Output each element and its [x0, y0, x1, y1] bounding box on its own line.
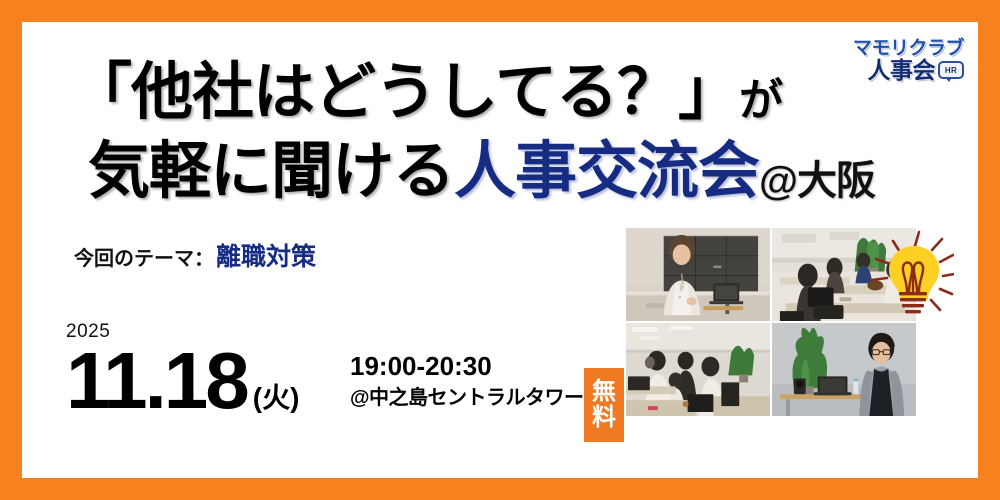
headline-location: @大阪	[759, 161, 875, 206]
headline-navy-part: 人事交流会	[454, 139, 759, 206]
logo-line-1: マモリクラブ	[853, 39, 964, 58]
headline-quote: 「他社はどうしてる？」	[70, 60, 739, 127]
headline-particle: が	[739, 79, 782, 127]
event-time: 19:00-20:30	[350, 352, 584, 382]
headline-line-1: 「他社はどうしてる？」 が	[70, 60, 880, 127]
headline: 「他社はどうしてる？」 が 気軽に聞ける 人事交流会 @大阪	[70, 60, 880, 206]
hr-badge-text: HR	[945, 66, 957, 75]
free-badge-char-1: 無	[592, 380, 616, 404]
event-schedule: 19:00-20:30 @中之島セントラルタワー	[350, 352, 584, 410]
speaker-with-laptop-photo	[772, 323, 916, 416]
event-venue: @中之島セントラルタワー	[350, 386, 584, 410]
event-day: 11.18	[66, 343, 247, 418]
headline-line-2: 気軽に聞ける 人事交流会 @大阪	[88, 139, 880, 206]
event-weekday: (火)	[253, 384, 300, 418]
session-theme: 今回のテーマ： 離職対策	[74, 237, 316, 273]
free-badge-char-2: 料	[592, 406, 616, 430]
seminar-table-discussion-photo	[772, 228, 916, 321]
theme-value: 離職対策	[216, 237, 316, 273]
office-people-standing-meeting-photo	[626, 323, 770, 416]
office-woman-presenting-photo	[626, 228, 770, 321]
free-admission-badge: 無 料	[584, 368, 624, 442]
logo-row-2: 人事会 HR	[868, 59, 965, 82]
theme-label: 今回のテーマ：	[74, 242, 214, 271]
event-date: 2025 11.18 (火)	[66, 322, 299, 418]
event-date-row: 11.18 (火)	[66, 343, 299, 418]
speech-bubble-icon: HR	[938, 61, 964, 79]
event-banner: マモリクラブ 人事会 HR 「他社はどうしてる？」 が 気軽に聞ける 人事交流会…	[0, 0, 1000, 500]
headline-black-part: 気軽に聞ける	[88, 139, 454, 206]
photo-collage	[626, 228, 916, 416]
banner-canvas: マモリクラブ 人事会 HR 「他社はどうしてる？」 が 気軽に聞ける 人事交流会…	[22, 22, 978, 478]
